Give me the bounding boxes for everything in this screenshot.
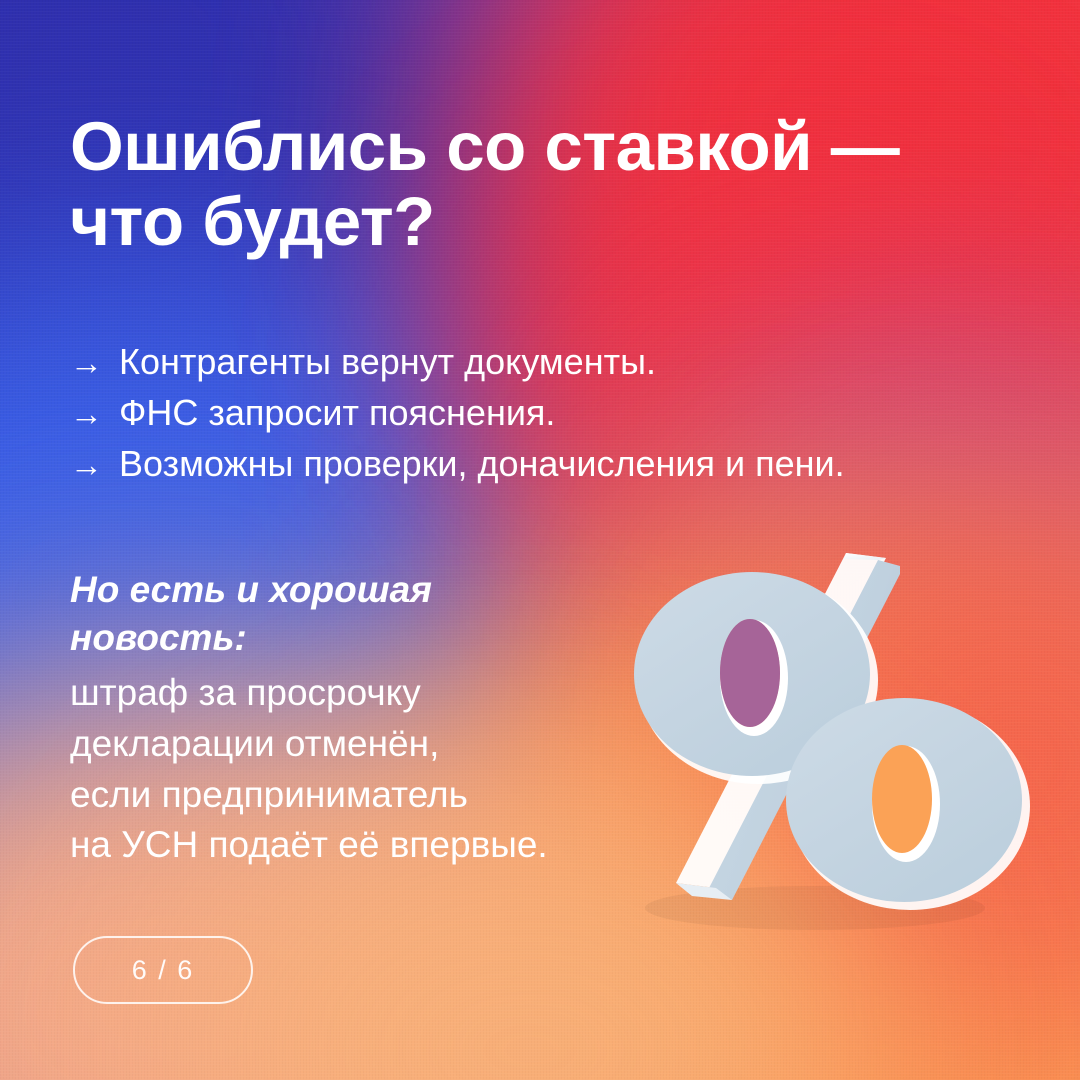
good-news-lead: Но есть и хорошая новость: [70,566,670,662]
page-indicator-badge: 6 / 6 [73,936,253,1004]
good-news-body-line-2: декларации отменён, [70,719,670,770]
arrow-right-icon: → [70,397,103,430]
headline-line-1: Ошиблись со ставкой — [70,110,1000,185]
good-news-lead-line-1: Но есть и хорошая [70,566,670,614]
social-card-slide: Ошиблись со ставкой — что будет? → Контр… [0,0,1080,1080]
slide-content: Ошиблись со ставкой — что будет? → Контр… [0,0,1080,1080]
list-item-label: ФНС запросит пояснения. [119,387,555,438]
page-indicator-label: 6 / 6 [132,955,195,986]
good-news-body: штраф за просрочку декларации отменён, е… [70,668,670,871]
good-news-block: Но есть и хорошая новость: штраф за прос… [70,566,670,871]
good-news-body-line-1: штраф за просрочку [70,668,670,719]
page-title: Ошиблись со ставкой — что будет? [70,110,1000,259]
good-news-body-line-4: на УСН подаёт её впервые. [70,820,670,871]
list-item-label: Возможны проверки, доначисления и пени. [119,438,845,489]
good-news-body-line-3: если предприниматель [70,770,670,821]
arrow-right-icon: → [70,346,103,379]
good-news-lead-line-2: новость: [70,614,670,662]
list-item: → Возможны проверки, доначисления и пени… [70,438,1030,489]
headline-line-2: что будет? [70,185,1000,260]
list-item-label: Контрагенты вернут документы. [119,336,656,387]
list-item: → Контрагенты вернут документы. [70,336,1030,387]
arrow-right-icon: → [70,448,103,481]
list-item: → ФНС запросит пояснения. [70,387,1030,438]
consequences-list: → Контрагенты вернут документы. → ФНС за… [70,336,1030,489]
